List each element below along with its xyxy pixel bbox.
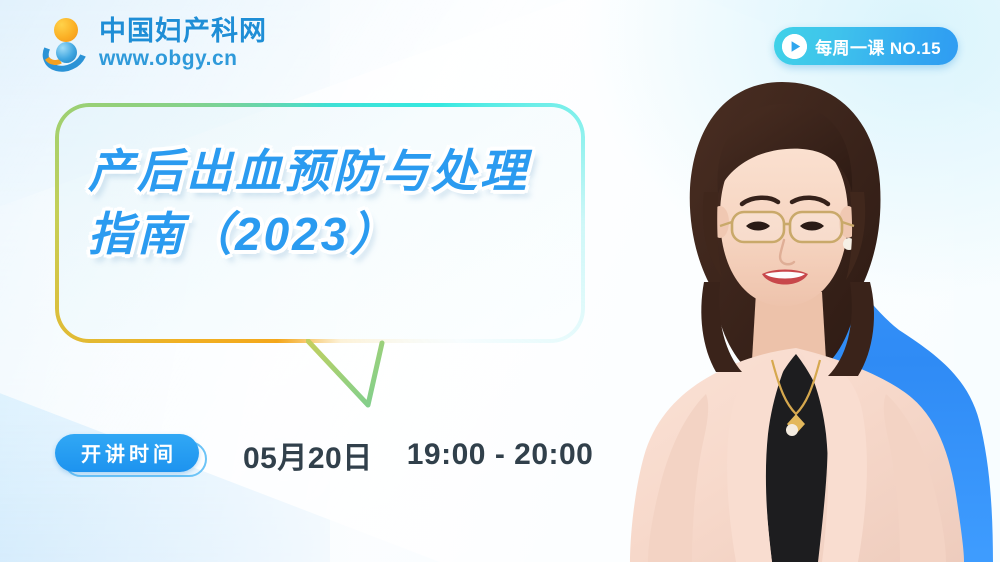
site-logo[interactable]: 中国妇产科网 www.obgy.cn — [40, 16, 267, 70]
schedule-row: 开讲时间 05月20日 19:00 - 20:00 — [55, 433, 593, 477]
title-line-2: 指南（2023） — [88, 203, 558, 266]
logo-ball-shape — [56, 42, 77, 63]
obgy-logo-icon — [40, 16, 90, 70]
logo-text-block: 中国妇产科网 www.obgy.cn — [99, 18, 267, 69]
schedule-label-text: 开讲时间 — [77, 438, 177, 467]
bubble-tail — [306, 339, 416, 419]
logo-site-url: www.obgy.cn — [99, 48, 267, 69]
speaker-portrait — [586, 42, 1000, 562]
schedule-time-range: 19:00 - 20:00 — [407, 438, 594, 472]
schedule-label-badge: 开讲时间 — [55, 434, 207, 477]
logo-sun-shape — [54, 18, 78, 42]
poster-title: 产后出血预防与处理 指南（2023） — [88, 140, 558, 265]
schedule-label-pill: 开讲时间 — [55, 434, 199, 472]
title-line-1: 产后出血预防与处理 — [88, 140, 558, 203]
logo-site-name: 中国妇产科网 — [99, 18, 267, 45]
schedule-date: 05月20日 — [243, 433, 373, 477]
webinar-poster: 中国妇产科网 www.obgy.cn 每周一课 NO.15 — [0, 0, 1000, 562]
